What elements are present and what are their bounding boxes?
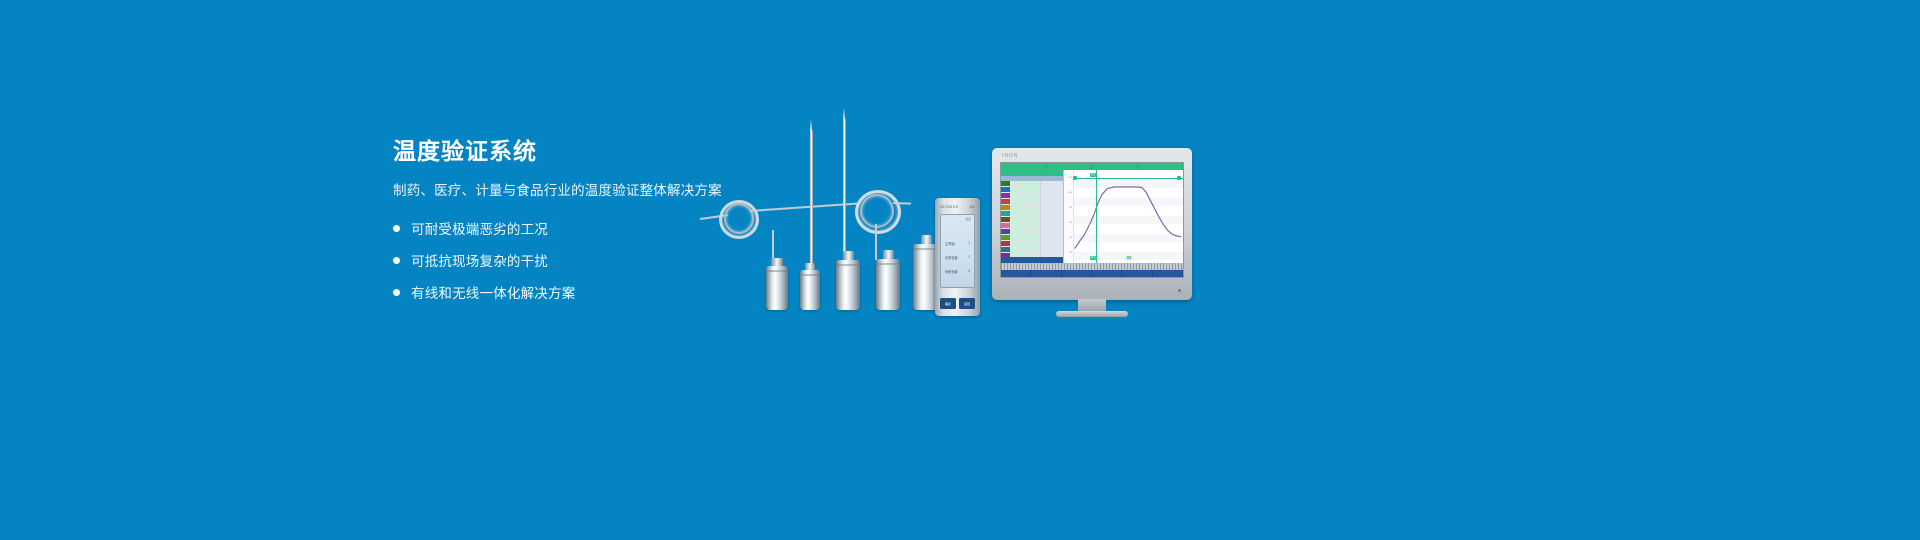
- exit-button[interactable]: [1153, 270, 1183, 277]
- cell-value: [1040, 187, 1063, 192]
- chart-marker-start-foot: 起点: [1090, 256, 1096, 260]
- series-color-swatch: [1001, 229, 1010, 234]
- probe-cable-coil-inner: [724, 203, 754, 234]
- cell-value: [1040, 223, 1063, 228]
- handheld-menu-row[interactable]: 主界面 1: [945, 241, 970, 246]
- series-color-swatch: [1001, 217, 1010, 222]
- cell-channel: [1010, 223, 1040, 228]
- cell-channel: [1010, 193, 1040, 198]
- handheld-menu-value: 2: [968, 255, 970, 260]
- cell-channel: [1010, 217, 1040, 222]
- handheld-menu-row[interactable]: 系统设置 3: [945, 269, 970, 274]
- chart-series-line: [1064, 170, 1183, 263]
- temperature-chart: 120 100 80 60 40 20: [1064, 170, 1183, 263]
- export-button[interactable]: [1122, 270, 1152, 277]
- handheld-menu-row[interactable]: 记录设置 2: [945, 255, 970, 260]
- bullet-dot-icon: [393, 289, 400, 296]
- cell-channel: [1010, 187, 1040, 192]
- monitor-screen: 120 100 80 60 40 20: [1000, 162, 1184, 278]
- cell-value: [1040, 217, 1063, 222]
- cell-channel: [1010, 247, 1040, 252]
- cell-channel: [1010, 199, 1040, 204]
- cell-value: [1040, 241, 1063, 246]
- handheld-button-bar: 确定 返回: [940, 298, 975, 309]
- software-body: 120 100 80 60 40 20: [1001, 170, 1183, 263]
- handheld-reader: INONIKE M1 温度 主界面 1 记录设置 2 系统设置 3 确定: [935, 198, 980, 316]
- feature-text: 可抵抗现场复杂的干扰: [411, 250, 548, 270]
- cell-value: [1040, 211, 1063, 216]
- handheld-brand: INONIKE: [940, 204, 959, 209]
- series-color-swatch: [1001, 241, 1010, 246]
- series-color-swatch: [1001, 187, 1010, 192]
- monitor-power-led: [1178, 289, 1181, 292]
- cell-channel: [1010, 229, 1040, 234]
- stainless-data-logger: [876, 259, 900, 310]
- cell-channel: [1010, 241, 1040, 246]
- chart-cursor-horizontal[interactable]: [1073, 178, 1183, 179]
- feature-text: 可耐受极端恶劣的工况: [411, 218, 548, 238]
- series-color-swatch: [1001, 181, 1010, 186]
- cell-value: [1040, 205, 1063, 210]
- cell-channel: [1010, 205, 1040, 210]
- handheld-menu-label: 记录设置: [945, 255, 958, 260]
- chart-cursor-handle-left[interactable]: [1073, 176, 1077, 180]
- bullet-dot-icon: [393, 225, 400, 232]
- handheld-screen: 温度 主界面 1 记录设置 2 系统设置 3: [940, 214, 975, 288]
- software-toolbar: [1001, 270, 1183, 277]
- chart-marker-start-label: 起点: [1090, 173, 1096, 177]
- chart-cursor-start[interactable]: [1096, 170, 1097, 263]
- menu-item-file[interactable]: [1001, 163, 1047, 170]
- software-menu-bar: [1001, 163, 1183, 170]
- cell-value: [1040, 229, 1063, 234]
- handheld-ok-button[interactable]: 确定: [940, 298, 956, 309]
- cell-value: [1040, 193, 1063, 198]
- cell-value: [1040, 181, 1063, 186]
- stainless-data-logger: [766, 266, 788, 310]
- cell-value: [1040, 235, 1063, 240]
- start-acquisition-button[interactable]: [1001, 270, 1031, 277]
- bullet-dot-icon: [393, 257, 400, 264]
- stainless-data-logger: [800, 270, 820, 310]
- probe-cable-coil-inner: [860, 194, 894, 228]
- handheld-menu-label: 系统设置: [945, 269, 958, 274]
- report-button[interactable]: [1062, 270, 1092, 277]
- chart-cursor-handle-right[interactable]: [1177, 176, 1181, 180]
- series-color-swatch: [1001, 235, 1010, 240]
- handheld-menu-value: 3: [968, 269, 970, 274]
- series-color-swatch: [1001, 193, 1010, 198]
- monitor-brand: INON: [1002, 153, 1019, 159]
- stainless-data-logger: [836, 260, 860, 310]
- series-color-swatch: [1001, 247, 1010, 252]
- channel-table-rows: [1001, 181, 1063, 257]
- probe-lead: [875, 224, 877, 260]
- handheld-model: M1: [969, 204, 975, 209]
- cell-value: [1040, 247, 1063, 252]
- stop-acquisition-button[interactable]: [1031, 270, 1061, 277]
- handheld-menu-value: 1: [968, 241, 970, 246]
- cell-value: [1040, 199, 1063, 204]
- handheld-back-button[interactable]: 返回: [959, 298, 975, 309]
- feature-text: 有线和无线一体化解决方案: [411, 282, 575, 302]
- product-photo: INONIKE M1 温度 主界面 1 记录设置 2 系统设置 3 确定: [700, 120, 1220, 320]
- cell-channel: [1010, 181, 1040, 186]
- chart-marker-end-label: 终点: [1126, 256, 1132, 260]
- menu-item-settings[interactable]: [1138, 163, 1184, 170]
- monitor-stand-base: [1056, 311, 1128, 317]
- handheld-menu-label: 主界面: [945, 241, 955, 246]
- pc-monitor: INON: [992, 148, 1192, 300]
- cell-channel: [1010, 235, 1040, 240]
- series-color-swatch: [1001, 205, 1010, 210]
- hero-banner: 温度验证系统 制药、医疗、计量与食品行业的温度验证整体解决方案 可耐受极端恶劣的…: [0, 0, 1920, 540]
- series-color-swatch: [1001, 211, 1010, 216]
- timeline-scrollbar[interactable]: [1001, 263, 1183, 270]
- series-color-swatch: [1001, 223, 1010, 228]
- handheld-screen-header: 温度: [965, 217, 971, 221]
- series-color-swatch: [1001, 199, 1010, 204]
- print-button[interactable]: [1092, 270, 1122, 277]
- channel-table: [1001, 170, 1064, 263]
- menu-item-report[interactable]: [1092, 163, 1138, 170]
- menu-item-data[interactable]: [1047, 163, 1093, 170]
- cell-channel: [1010, 211, 1040, 216]
